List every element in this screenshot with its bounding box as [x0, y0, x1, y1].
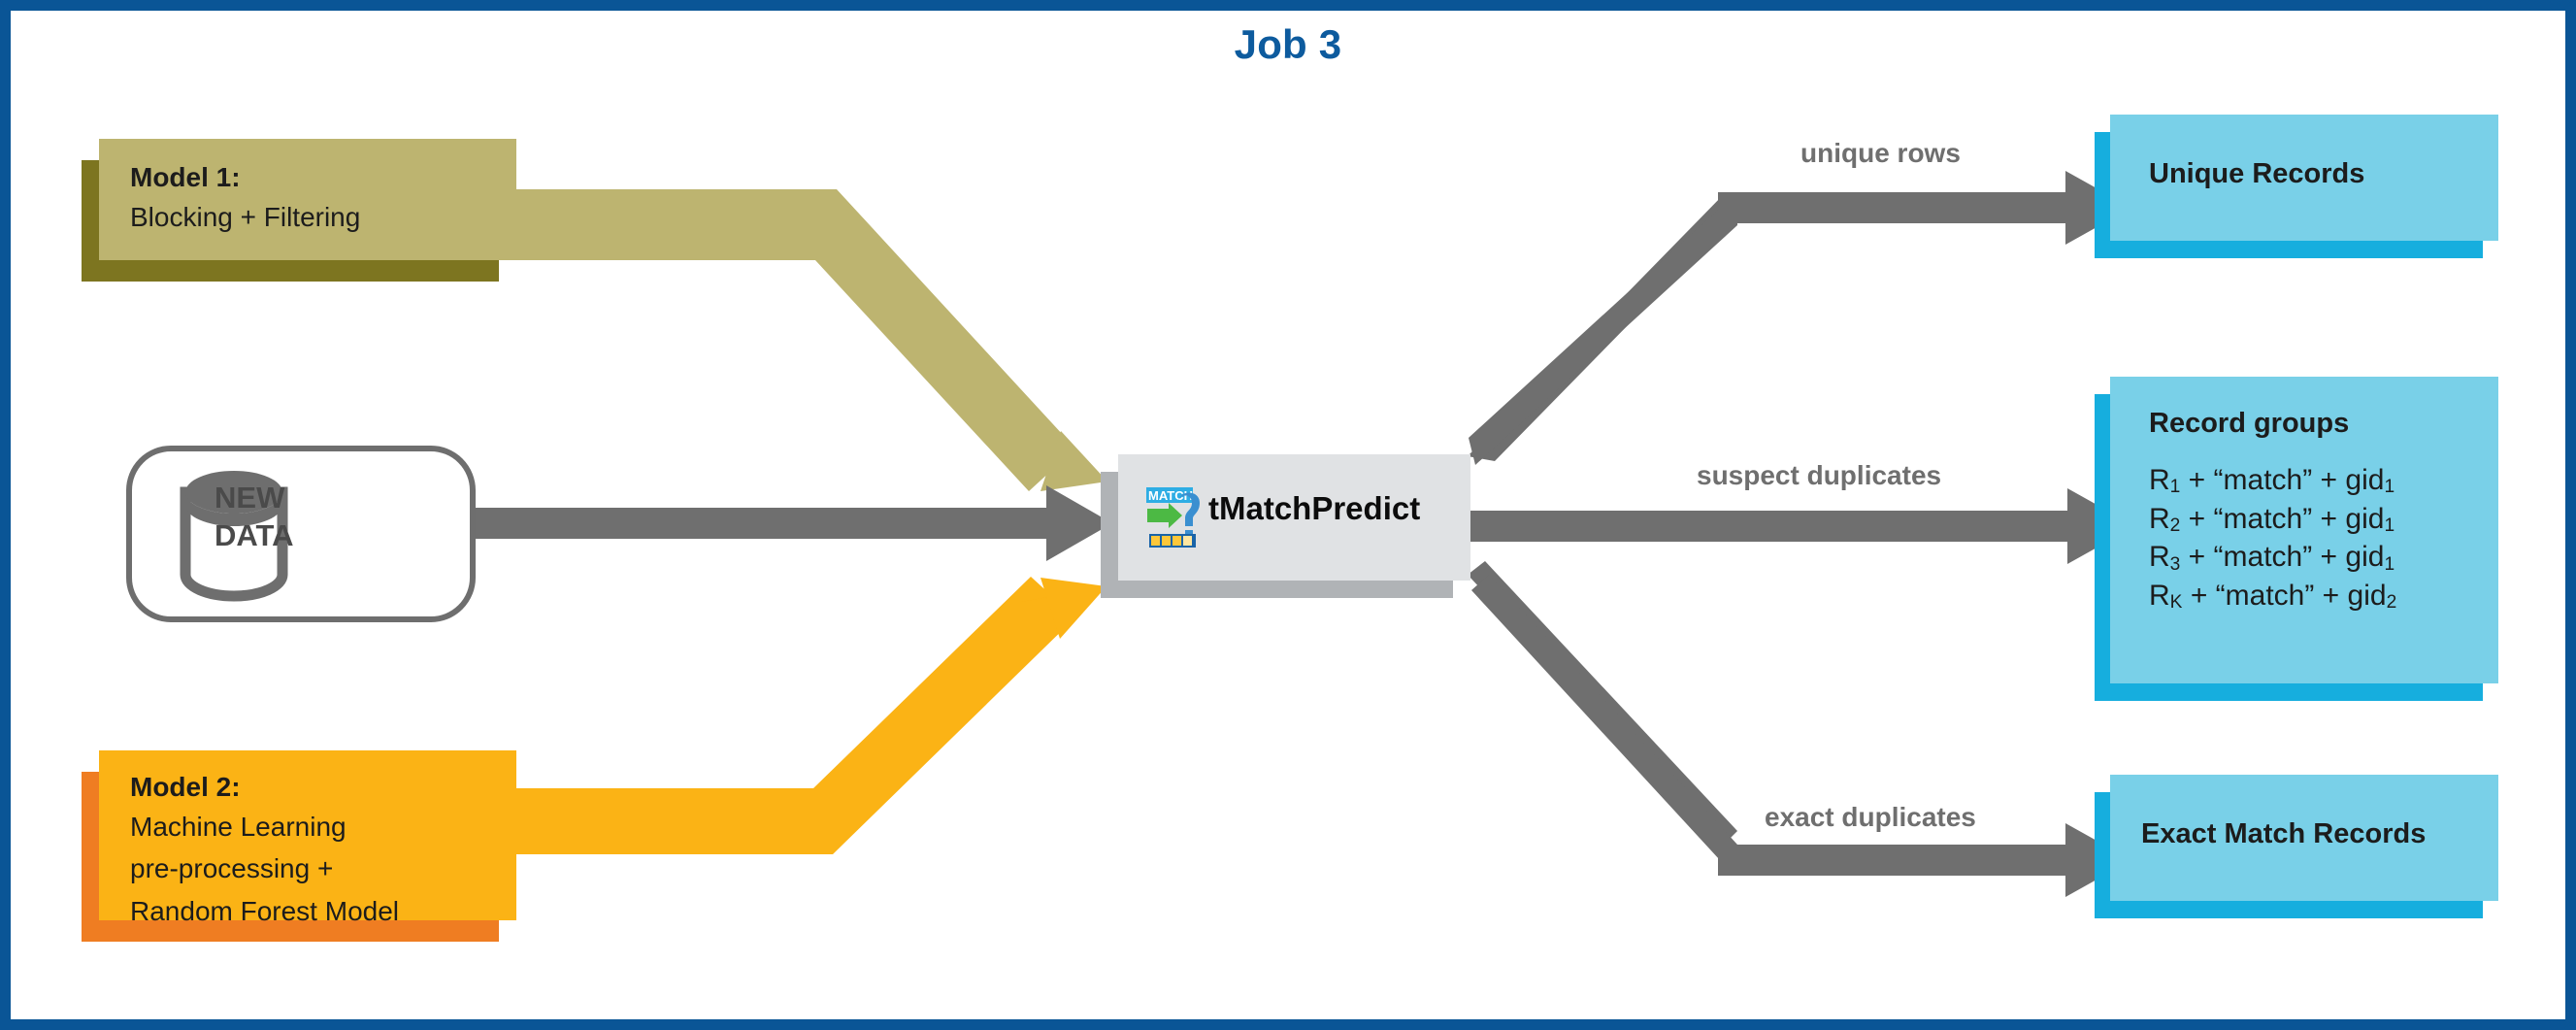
record-group-row: R2 + “match” + gid1: [2149, 500, 2498, 539]
model-2-title: Model 2:: [130, 770, 516, 806]
edge-exact-duplicates: [1468, 561, 2131, 897]
model-1-body: Blocking + Filtering: [130, 196, 516, 238]
model-1-title: Model 1:: [130, 160, 516, 196]
output-record-groups-box[interactable]: Record groups R1 + “match” + gid1R2 + “m…: [2110, 377, 2498, 683]
new-data-label: NEW DATA: [215, 479, 380, 554]
model-2-box[interactable]: Model 2: Machine Learning pre-processing…: [99, 750, 516, 920]
model-1-box[interactable]: Model 1: Blocking + Filtering: [99, 139, 516, 260]
edge-suspect-duplicates: [1466, 488, 2135, 564]
record-groups-rows: R1 + “match” + gid1R2 + “match” + gid1R3…: [2149, 461, 2498, 615]
record-groups-title: Record groups: [2149, 408, 2498, 440]
output-exact-match-records-box[interactable]: Exact Match Records: [2110, 775, 2498, 901]
edge-unique-rows: [1468, 171, 2131, 465]
edge-label-suspect-duplicates: suspect duplicates: [1697, 460, 1941, 491]
unique-records-title: Unique Records: [2149, 158, 2498, 190]
page-title: Job 3: [0, 21, 2576, 68]
edge-label-unique-rows: unique rows: [1800, 138, 1961, 169]
model-2-body: Machine Learning pre-processing + Random…: [130, 806, 516, 932]
exact-match-records-title: Exact Match Records: [2141, 818, 2498, 850]
record-group-row: R3 + “match” + gid1: [2149, 538, 2498, 577]
record-group-row: R1 + “match” + gid1: [2149, 461, 2498, 500]
diagram-canvas: Job 3 Model 1: Blocking + Filtering NEW …: [0, 0, 2576, 1030]
match-predict-icon: MATCH: [1143, 483, 1211, 551]
edge-label-exact-duplicates: exact duplicates: [1765, 802, 1976, 833]
record-group-row: RK + “match” + gid2: [2149, 577, 2498, 615]
tmatchpredict-label: tMatchPredict: [1208, 490, 1420, 527]
output-unique-records-box[interactable]: Unique Records: [2110, 115, 2498, 241]
edge-newdata-to-node: [474, 485, 1112, 561]
